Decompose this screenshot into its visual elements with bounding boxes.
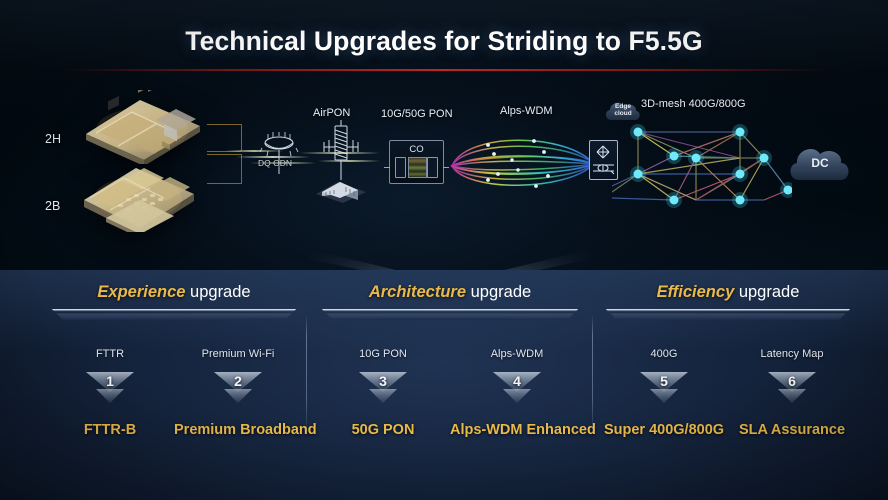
vignette-overlay (0, 0, 888, 500)
slide-canvas: Technical Upgrades for Striding to F5.5G… (0, 0, 888, 500)
